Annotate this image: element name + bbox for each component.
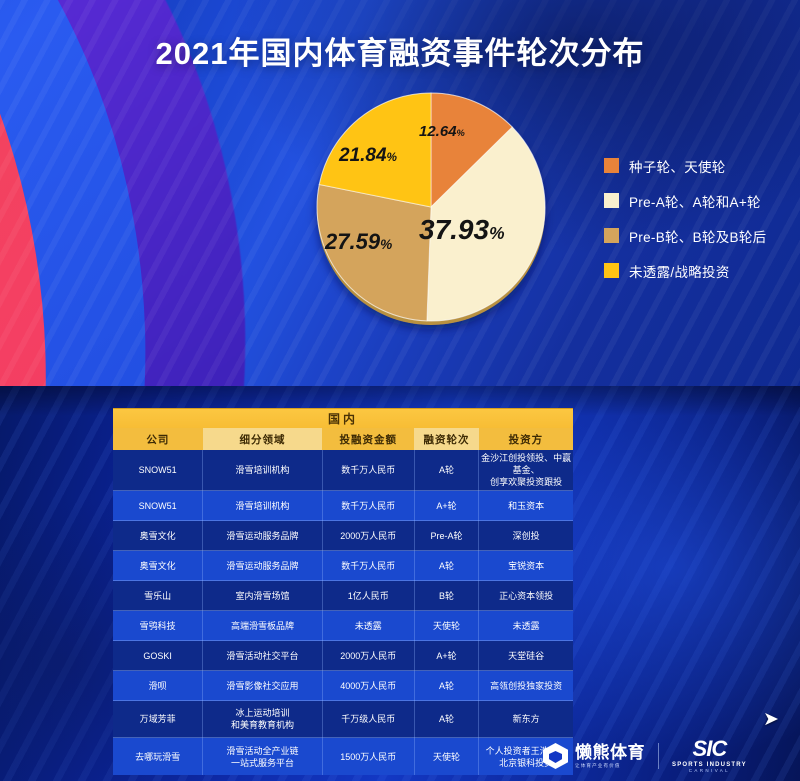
table-row: GOSKI滑雪活动社交平台2000万人民币A+轮天堂硅谷	[113, 641, 573, 671]
table-cell-company: SNOW51	[113, 450, 203, 491]
table-cell-company: 奥雪文化	[113, 521, 203, 551]
table-cell-investor: 高瓴创投独家投资	[479, 671, 573, 701]
table-row: SNOW51滑雪培训机构数千万人民币A轮金沙江创投领投、中赢基金、创享欢聚投资跟…	[113, 450, 573, 491]
page-title: 2021年国内体育融资事件轮次分布	[0, 28, 800, 73]
table-cell-company: 奥雪文化	[113, 551, 203, 581]
table-cell-amount: 4000万人民币	[322, 671, 414, 701]
table-column-header-2: 投融资金额	[322, 428, 414, 450]
table-cell-field: 滑雪活动全产业链一站式服务平台	[203, 738, 323, 775]
table-cell-investor: 未透露	[479, 611, 573, 641]
table-cell-amount: 数千万人民币	[322, 551, 414, 581]
chart-legend: 种子轮、天使轮Pre-A轮、A轮和A+轮Pre-B轮、B轮及B轮后未透露/战略投…	[604, 148, 794, 288]
table-cell-round: B轮	[414, 581, 478, 611]
table-cell-round: Pre-A轮	[414, 521, 478, 551]
brand-text: 懒熊体育 让体育产业有价值	[575, 744, 645, 769]
legend-swatch-icon	[604, 158, 619, 173]
legend-item-2: Pre-B轮、B轮及B轮后	[604, 218, 794, 253]
table-cell-round: 天使轮	[414, 738, 478, 775]
table-cell-field: 滑雪培训机构	[203, 491, 323, 521]
table-cell-company: SNOW51	[113, 491, 203, 521]
table-cell-amount: 千万级人民币	[322, 701, 414, 738]
sic-line-2: CARNIVAL	[672, 769, 747, 774]
brand-logo-lanxiong: 懒熊体育 让体育产业有价值	[543, 743, 645, 769]
pie-chart: 12.64% 37.93% 27.59% 21.84%	[315, 90, 547, 327]
legend-item-1: Pre-A轮、A轮和A+轮	[604, 183, 794, 218]
table-cell-investor: 正心资本领投	[479, 581, 573, 611]
brand-tagline: 让体育产业有价值	[575, 764, 645, 769]
table-cell-round: 天使轮	[414, 611, 478, 641]
table-cell-amount: 数千万人民币	[322, 450, 414, 491]
legend-label: 未透露/战略投资	[629, 261, 730, 281]
legend-label: 种子轮、天使轮	[629, 156, 726, 176]
legend-swatch-icon	[604, 263, 619, 278]
legend-swatch-icon	[604, 193, 619, 208]
table-cell-field: 滑雪活动社交平台	[203, 641, 323, 671]
table-cell-company: 滑呗	[113, 671, 203, 701]
table-column-header-0: 公司	[113, 428, 203, 450]
table-row: 去哪玩滑雪滑雪活动全产业链一站式服务平台1500万人民币天使轮个人投资者王浩然、…	[113, 738, 573, 775]
table-cell-round: A轮	[414, 450, 478, 491]
table-cell-investor: 金沙江创投领投、中赢基金、创享欢聚投资跟投	[479, 450, 573, 491]
table-row: 滑呗滑雪影像社交应用4000万人民币A轮高瓴创投独家投资	[113, 671, 573, 701]
table-cell-investor: 新东方	[479, 701, 573, 738]
table-cell-field: 高端滑雪板品牌	[203, 611, 323, 641]
table-header-row: 公司细分领域投融资金额融资轮次投资方	[113, 428, 573, 450]
table-cell-amount: 未透露	[322, 611, 414, 641]
table-column-header-1: 细分领域	[203, 428, 323, 450]
legend-item-3: 未透露/战略投资	[604, 253, 794, 288]
table-column-header-3: 融资轮次	[414, 428, 478, 450]
infographic-canvas: 2021年国内体育融资事件轮次分布 12.64% 37.93% 27.59% 2…	[0, 0, 800, 781]
table-cell-amount: 1500万人民币	[322, 738, 414, 775]
table-cell-field: 滑雪培训机构	[203, 450, 323, 491]
financing-table-grid: 公司细分领域投融资金额融资轮次投资方 SNOW51滑雪培训机构数千万人民币A轮金…	[113, 428, 573, 775]
table-cell-round: A轮	[414, 551, 478, 581]
table-cell-amount: 1亿人民币	[322, 581, 414, 611]
table-cell-amount: 数千万人民币	[322, 491, 414, 521]
table-cell-company: 万域芳菲	[113, 701, 203, 738]
table-cell-field: 滑雪运动服务品牌	[203, 551, 323, 581]
table-cell-round: A+轮	[414, 641, 478, 671]
table-body: SNOW51滑雪培训机构数千万人民币A轮金沙江创投领投、中赢基金、创享欢聚投资跟…	[113, 450, 573, 775]
table-cell-investor: 和玉资本	[479, 491, 573, 521]
table-row: SNOW51滑雪培训机构数千万人民币A+轮和玉资本	[113, 491, 573, 521]
bear-hexagon-icon	[543, 743, 568, 769]
table-cell-round: A+轮	[414, 491, 478, 521]
brand-logo-sic: SIC SPORTS INDUSTRY CARNIVAL	[672, 738, 747, 774]
table-row: 奥雪文化滑雪运动服务品牌2000万人民币Pre-A轮深创投	[113, 521, 573, 551]
table-row: 雪乐山室内滑雪场馆1亿人民币B轮正心资本领投	[113, 581, 573, 611]
table-cell-investor: 深创投	[479, 521, 573, 551]
table-cell-amount: 2000万人民币	[322, 521, 414, 551]
table-row: 雪鸮科技高端滑雪板品牌未透露天使轮未透露	[113, 611, 573, 641]
legend-item-0: 种子轮、天使轮	[604, 148, 794, 183]
table-row: 奥雪文化滑雪运动服务品牌数千万人民币A轮宝锐资本	[113, 551, 573, 581]
table-cell-investor: 天堂硅谷	[479, 641, 573, 671]
financing-table: 国内 公司细分领域投融资金额融资轮次投资方 SNOW51滑雪培训机构数千万人民币…	[113, 408, 573, 775]
footer-divider	[658, 743, 659, 769]
pie-slice-label-prea: 37.93%	[419, 216, 505, 244]
legend-swatch-icon	[604, 228, 619, 243]
table-cell-round: A轮	[414, 701, 478, 738]
table-cell-company: 雪乐山	[113, 581, 203, 611]
table-cell-field: 冰上运动培训和美育教育机构	[203, 701, 323, 738]
table-cell-amount: 2000万人民币	[322, 641, 414, 671]
pie-slice-label-preb: 27.59%	[325, 231, 392, 253]
legend-label: Pre-B轮、B轮及B轮后	[629, 226, 766, 246]
table-cell-company: GOSKI	[113, 641, 203, 671]
pie-slice-label-undisclosed: 21.84%	[339, 146, 397, 165]
table-cell-company: 去哪玩滑雪	[113, 738, 203, 775]
table-cell-field: 滑雪运动服务品牌	[203, 521, 323, 551]
table-cell-field: 滑雪影像社交应用	[203, 671, 323, 701]
table-cell-investor: 宝锐资本	[479, 551, 573, 581]
sic-monogram: SIC	[672, 738, 747, 760]
pie-slice-label-seed: 12.64%	[419, 124, 465, 139]
table-column-header-4: 投资方	[479, 428, 573, 450]
table-cell-company: 雪鸮科技	[113, 611, 203, 641]
table-caption: 国内	[113, 408, 573, 428]
legend-label: Pre-A轮、A轮和A+轮	[629, 191, 761, 211]
table-row: 万域芳菲冰上运动培训和美育教育机构千万级人民币A轮新东方	[113, 701, 573, 738]
table-cell-round: A轮	[414, 671, 478, 701]
table-cell-field: 室内滑雪场馆	[203, 581, 323, 611]
brand-name: 懒熊体育	[575, 744, 645, 761]
footer-logos: 懒熊体育 让体育产业有价值 SIC SPORTS INDUSTRY CARNIV…	[543, 736, 793, 776]
